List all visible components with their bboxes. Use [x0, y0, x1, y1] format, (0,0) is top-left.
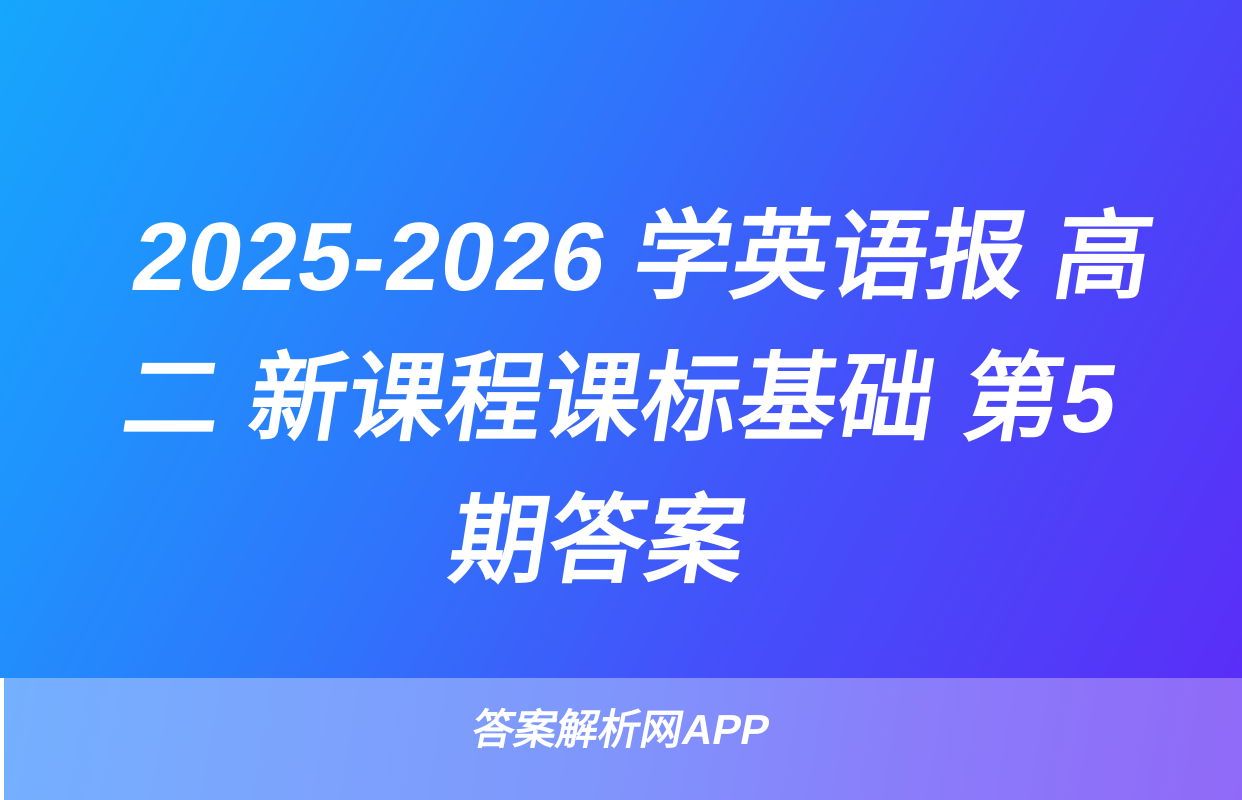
app-watermark-label: 答案解析网APP: [467, 702, 774, 758]
poster-title: 2025-2026 学英语报 高 二 新课程课标基础 第5 期答案: [26, 186, 1215, 612]
app-watermark: 答案解析网APP: [0, 702, 1242, 758]
title-line-3: 期答案: [26, 470, 1170, 612]
poster-canvas: 2025-2026 学英语报 高 二 新课程课标基础 第5 期答案 答案解析网A…: [0, 0, 1242, 800]
title-line-1: 2025-2026 学英语报 高: [71, 186, 1215, 328]
title-line-2: 二 新课程课标基础 第5: [49, 328, 1193, 470]
